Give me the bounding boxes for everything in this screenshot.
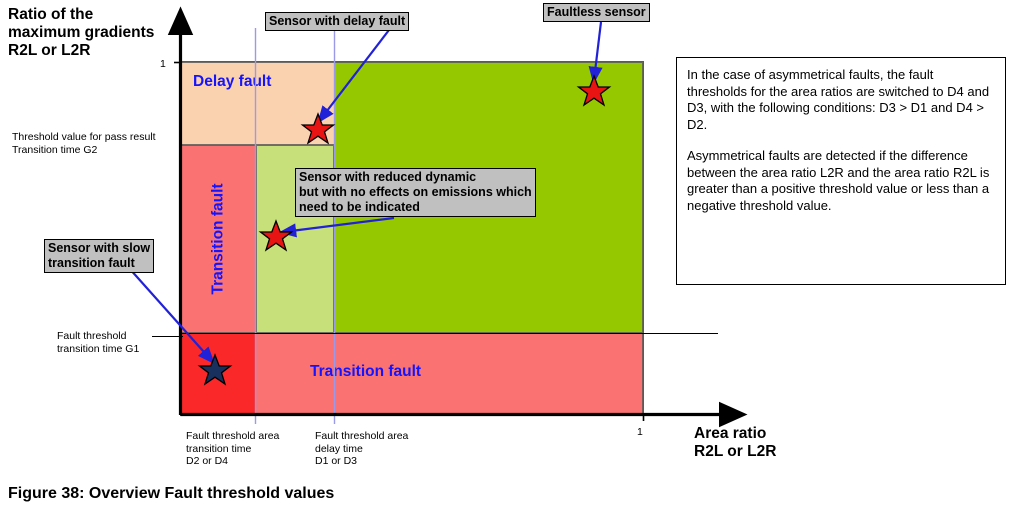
figure-caption: Figure 38: Overview Fault threshold valu… (8, 485, 334, 503)
callout-sensor-delay-fault: Sensor with delay fault (265, 12, 409, 31)
x-threshold-d1-label: Fault threshold area delay time D1 or D3 (315, 430, 425, 468)
x-axis-tick-label-1: 1 (637, 426, 643, 438)
zone-severe-transition-fault (181, 333, 256, 415)
callout-sensor-reduced-dynamic: Sensor with reduced dynamic but with no … (295, 168, 536, 217)
y-threshold-pass-label: Threshold value for pass result Transiti… (12, 131, 187, 156)
y-axis-title: Ratio of the maximum gradients R2L or L2… (8, 6, 183, 60)
x-axis-title: Area ratio R2L or L2R (694, 425, 874, 461)
figure-canvas: Delay fault Transition fault Transition … (0, 0, 1021, 521)
asymmetrical-faults-info-box: In the case of asymmetrical faults, the … (676, 57, 1006, 285)
zone-label-delay-fault: Delay fault (193, 73, 271, 91)
x-threshold-d2-label: Fault threshold area transition time D2 … (186, 430, 296, 468)
zone-label-transition-fault-vertical-text: Transition fault (210, 183, 228, 294)
zone-label-transition-fault-vertical: Transition fault (181, 145, 256, 333)
callout-sensor-slow-transition-fault: Sensor with slow transition fault (44, 239, 154, 273)
y-fault-threshold-g1-label: Fault threshold transition time G1 (57, 330, 187, 355)
info-paragraph-1: In the case of asymmetrical faults, the … (687, 67, 995, 133)
info-paragraph-2: Asymmetrical faults are detected if the … (687, 148, 995, 214)
y-axis-tick-label-1: 1 (160, 58, 166, 70)
callout-faultless-sensor: Faultless sensor (543, 3, 650, 22)
zone-label-transition-fault-bottom: Transition fault (310, 363, 421, 381)
